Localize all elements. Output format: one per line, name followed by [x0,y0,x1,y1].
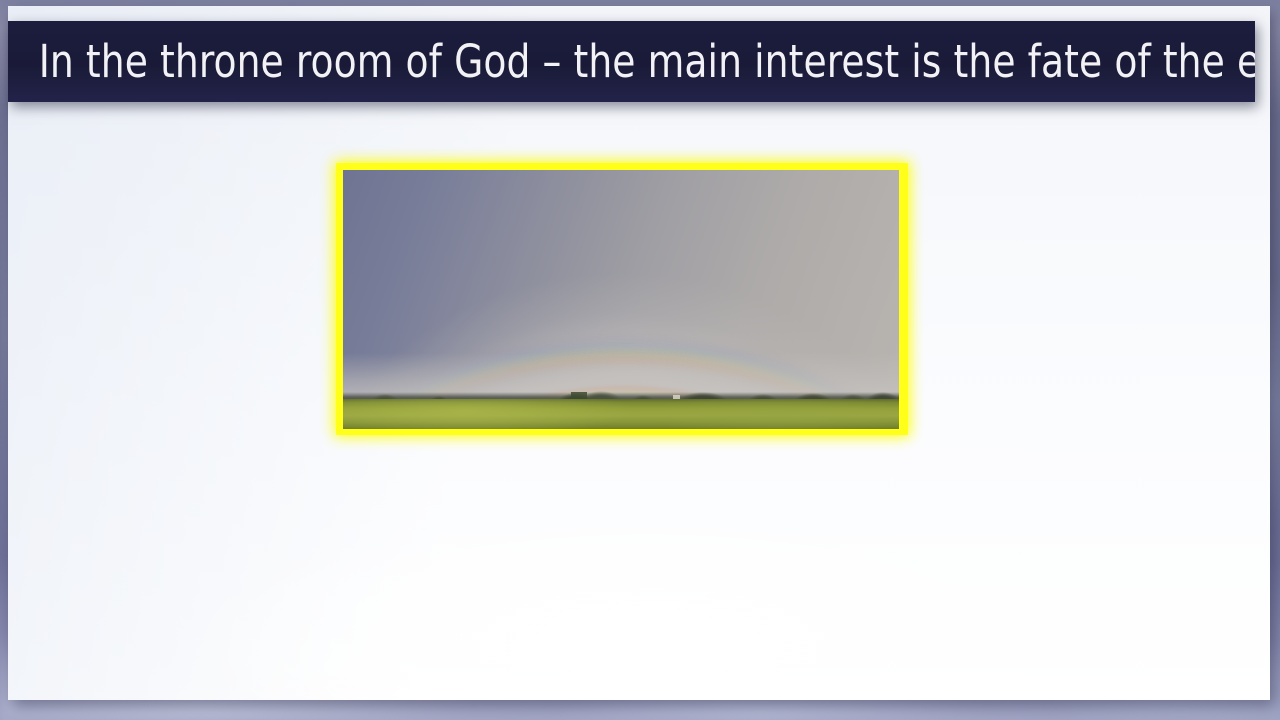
rainbow-photo[interactable] [343,170,899,429]
photo-field-sheen [343,399,899,429]
slide-title-bar[interactable]: In the throne room of God – the main int… [8,21,1255,102]
slide-title: In the throne room of God – the main int… [8,39,1255,84]
